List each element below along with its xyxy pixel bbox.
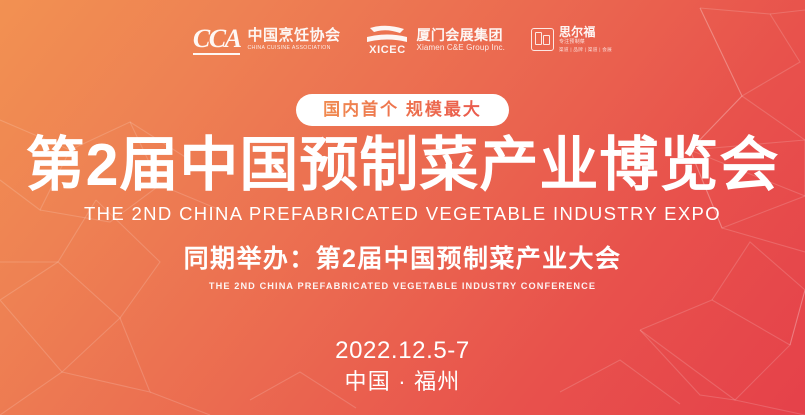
event-location: 中国 · 福州 <box>0 368 805 396</box>
sif-text-block: 思尔福 专注预制菜 渠道 | 品牌 | 渠道 | 会展 <box>559 26 612 54</box>
xicec-wordmark: XICEC <box>369 45 406 56</box>
logo-cca: CCA 中国烹饪协会 CHINA CUISINE ASSOCIATION <box>193 26 341 55</box>
cca-wordmark: CCA <box>193 26 241 55</box>
sif-name-en: 专注预制菜 <box>559 39 612 46</box>
page-title: 第2届中国预制菜产业博览会 <box>0 136 805 195</box>
cca-name-cn: 中国烹饪协会 <box>247 28 340 45</box>
xicec-roof-icon <box>366 24 408 44</box>
sif-box-icon <box>531 28 554 51</box>
cca-name-en: CHINA CUISINE ASSOCIATION <box>247 45 340 52</box>
page-title-english: THE 2ND CHINA PREFABRICATED VEGETABLE IN… <box>0 203 805 225</box>
logo-sif: 思尔福 专注预制菜 渠道 | 品牌 | 渠道 | 会展 <box>531 26 612 54</box>
event-banner: CCA 中国烹饪协会 CHINA CUISINE ASSOCIATION XIC… <box>0 0 805 415</box>
highlight-badge-label: 国内首个 规模最大 <box>323 100 482 119</box>
cca-text-block: 中国烹饪协会 CHINA CUISINE ASSOCIATION <box>247 28 340 52</box>
sif-subtitle: 渠道 | 品牌 | 渠道 | 会展 <box>559 47 612 54</box>
logo-bar: CCA 中国烹饪协会 CHINA CUISINE ASSOCIATION XIC… <box>0 24 805 56</box>
highlight-badge: 国内首个 规模最大 <box>296 94 509 126</box>
concurrent-conference-title: 同期举办：第2届中国预制菜产业大会 <box>0 244 805 274</box>
logo-xicec: XICEC 厦门会展集团 Xiamen C&E Group Inc. <box>366 24 505 56</box>
event-date: 2022.12.5-7 <box>0 336 805 366</box>
badge-container: 国内首个 规模最大 <box>0 94 805 126</box>
concurrent-conference-title-english: THE 2ND CHINA PREFABRICATED VEGETABLE IN… <box>0 281 805 292</box>
xicec-name-cn: 厦门会展集团 <box>416 27 505 43</box>
sif-name-cn: 思尔福 <box>559 26 612 39</box>
xicec-name-en: Xiamen C&E Group Inc. <box>416 43 505 53</box>
xicec-mark: XICEC <box>366 24 408 56</box>
xicec-text-block: 厦门会展集团 Xiamen C&E Group Inc. <box>416 27 505 53</box>
